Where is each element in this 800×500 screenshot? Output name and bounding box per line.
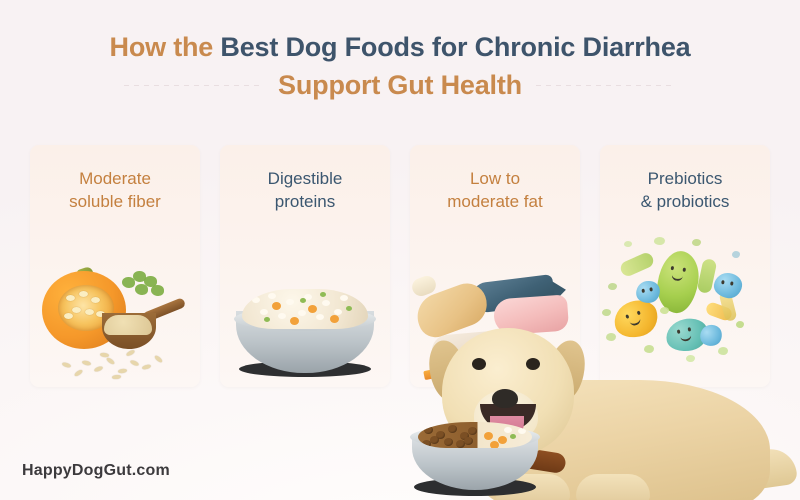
card-title-line1: Moderate <box>79 169 151 188</box>
feature-card-soluble-fiber[interactable]: Moderate soluble fiber <box>30 145 200 387</box>
dotted-rule-right <box>536 85 676 86</box>
card-title-line1: Digestible <box>268 169 343 188</box>
scoop-grain-fill <box>104 315 152 335</box>
card-title-line1: Low to <box>470 169 520 188</box>
card-title-prebiotics-probiotics: Prebiotics & probiotics <box>600 167 770 213</box>
site-watermark: HappyDogGut.com <box>22 462 170 480</box>
card-title-line2: & probiotics <box>641 192 730 211</box>
card-title-line2: proteins <box>275 192 335 211</box>
title-line-1: How the Best Dog Foods for Chronic Diarr… <box>0 30 800 64</box>
card-title-line2: soluble fiber <box>69 192 161 211</box>
pumpkin-oats-illustration <box>30 229 200 387</box>
card-title-digestible-proteins: Digestible proteins <box>220 167 390 213</box>
dotted-rule-left <box>124 85 264 86</box>
title-line-2: Support Gut Health <box>278 68 522 102</box>
title-accent-text: How the <box>110 32 221 62</box>
hero-food-bowl <box>410 414 540 498</box>
hero-bowl-contents <box>418 422 532 448</box>
feature-card-digestible-proteins[interactable]: Digestible proteins <box>220 145 390 387</box>
title-block: How the Best Dog Foods for Chronic Diarr… <box>0 30 800 102</box>
title-line-2-row: Support Gut Health <box>0 68 800 102</box>
card-title-line1: Prebiotics <box>648 169 723 188</box>
dog-eye-right <box>526 358 540 370</box>
parsley-icon <box>122 271 164 301</box>
infographic-canvas: How the Best Dog Foods for Chronic Diarr… <box>0 0 800 500</box>
card-title-low-moderate-fat: Low to moderate fat <box>410 167 580 213</box>
dog-front-paw-right <box>576 474 650 500</box>
dog-nose <box>492 389 518 408</box>
dog-eye-left <box>472 358 486 370</box>
food-bowl-illustration <box>220 229 390 387</box>
title-main-text: Best Dog Foods for Chronic Diarrhea <box>220 32 690 62</box>
card-title-soluble-fiber: Moderate soluble fiber <box>30 167 200 213</box>
bowl-food-contents <box>242 289 368 329</box>
card-title-line2: moderate fat <box>447 192 542 211</box>
